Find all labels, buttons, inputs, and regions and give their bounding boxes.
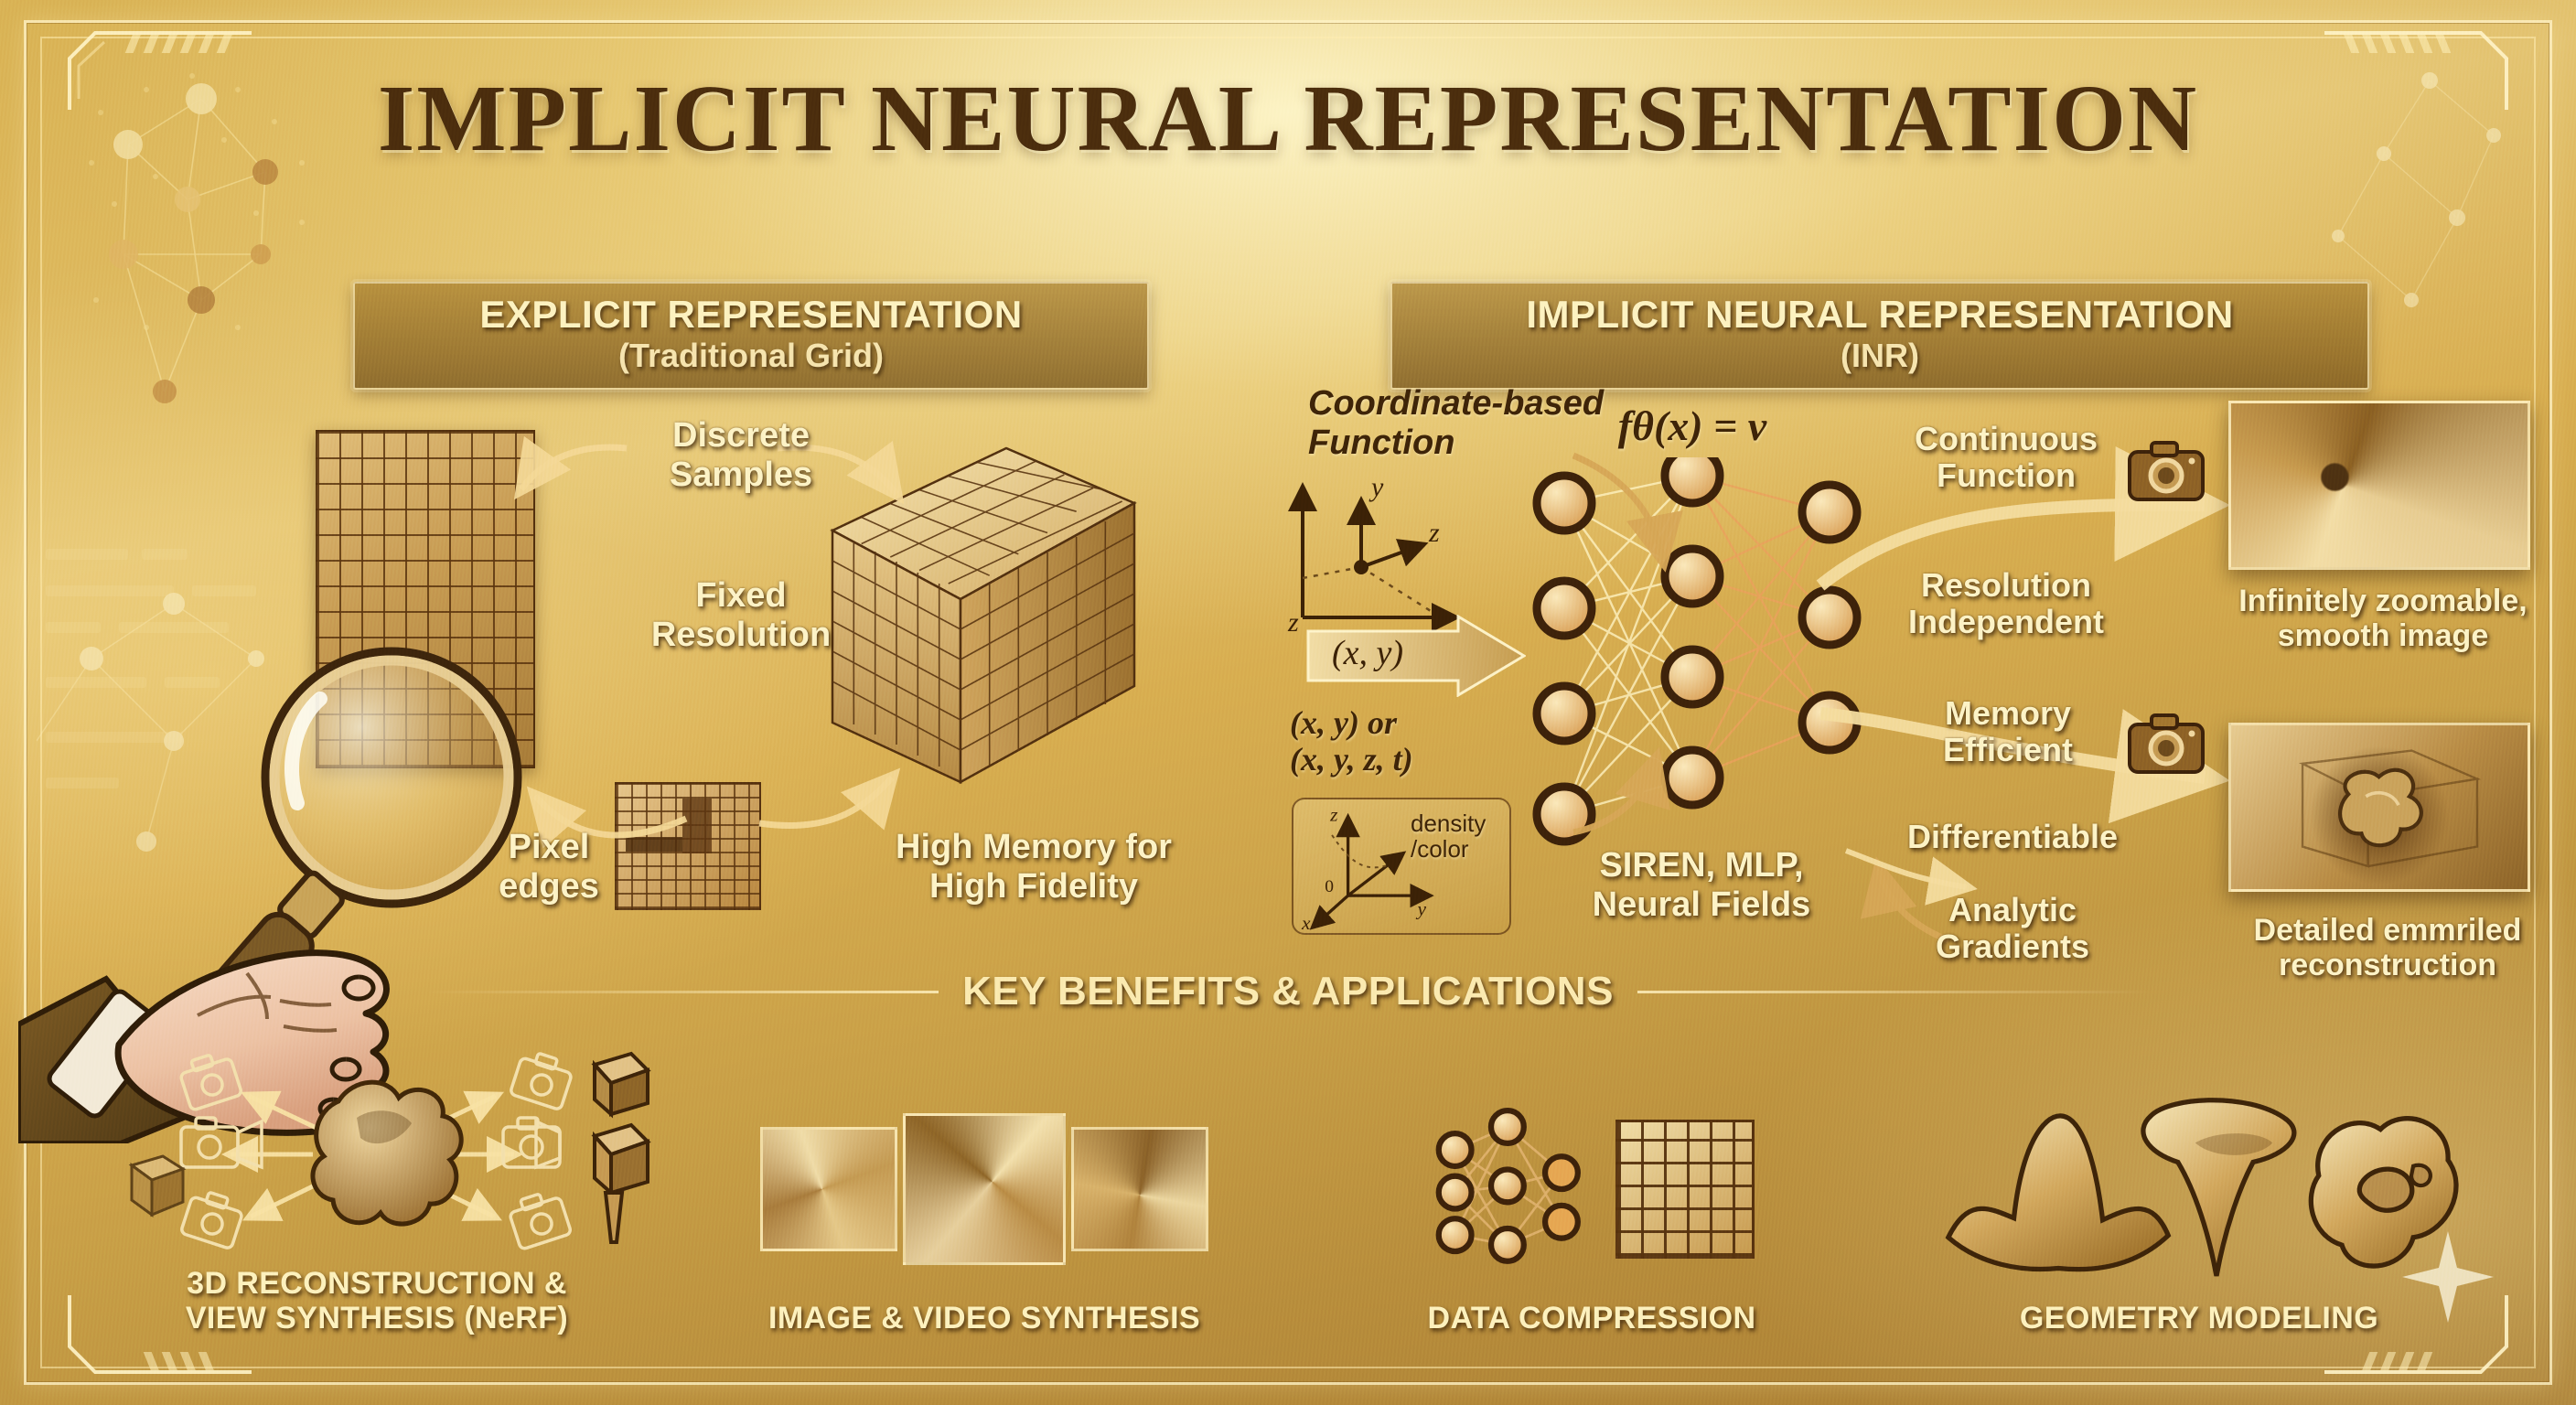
label-memory-efficient: Memory Efficient bbox=[1884, 695, 2131, 769]
image-video-artwork bbox=[681, 1083, 1288, 1295]
geometry-artwork bbox=[1895, 1083, 2503, 1295]
thumbnail-smooth-image bbox=[2228, 401, 2530, 570]
thumbnail-3d-reconstruction bbox=[2228, 723, 2530, 892]
label-differentiable: Differentiable bbox=[1866, 819, 2159, 855]
label-network-types: SIREN, MLP, Neural Fields bbox=[1546, 846, 1857, 924]
film-frame-2 bbox=[903, 1113, 1066, 1265]
applications-strip: 3D RECONSTRUCTION & VIEW SYNTHESIS (NeRF… bbox=[73, 1006, 2503, 1335]
application-label-image-video: IMAGE & VIDEO SYNTHESIS bbox=[768, 1301, 1200, 1335]
explicit-representation-banner: EXPLICIT REPRESENTATION (Traditional Gri… bbox=[353, 282, 1149, 390]
page-title: IMPLICIT NEURAL REPRESENTATION bbox=[0, 64, 2576, 173]
inr-heading-line1: IMPLICIT NEURAL REPRESENTATION bbox=[1416, 293, 2344, 337]
input-coordinate-arrow: (x, y) bbox=[1306, 615, 1526, 697]
application-label-geometry: GEOMETRY MODELING bbox=[2020, 1301, 2378, 1335]
density-axis-y: y bbox=[1416, 898, 1427, 920]
nerf-artwork bbox=[73, 1048, 681, 1260]
explicit-heading-line1: EXPLICIT REPRESENTATION bbox=[379, 293, 1123, 337]
application-label-compression: DATA COMPRESSION bbox=[1427, 1301, 1755, 1335]
label-density-color: density /color bbox=[1411, 810, 1520, 862]
application-label-nerf: 3D RECONSTRUCTION & VIEW SYNTHESIS (NeRF… bbox=[186, 1266, 568, 1335]
axis-label-z-lower: z bbox=[1287, 607, 1299, 638]
divider-rule-left bbox=[426, 991, 939, 993]
film-frame-1 bbox=[760, 1127, 897, 1251]
density-color-output-box: z x y 0 density /color bbox=[1292, 798, 1511, 935]
label-high-memory: High Memory for High Fidelity bbox=[860, 828, 1207, 906]
density-axis-z: z bbox=[1329, 803, 1338, 825]
density-origin: 0 bbox=[1325, 877, 1334, 896]
density-axis-x: x bbox=[1301, 912, 1311, 933]
camera-icon-top bbox=[2128, 441, 2205, 501]
axis-label-y: y bbox=[1368, 472, 1384, 502]
label-formula: fθ(x) = v bbox=[1555, 402, 1830, 450]
application-cell-geometry[interactable]: GEOMETRY MODELING bbox=[1895, 1006, 2503, 1335]
coordinate-axes-3d: y z z bbox=[1284, 457, 1476, 640]
film-frame-3 bbox=[1071, 1127, 1208, 1251]
label-continuous-function: Continuous Function bbox=[1873, 421, 2139, 495]
camera-icon-bottom bbox=[2128, 713, 2205, 774]
caption-output-top: Infinitely zoomable, smooth image bbox=[2205, 584, 2561, 653]
label-fixed-resolution: Fixed Resolution bbox=[622, 576, 860, 654]
compression-grid bbox=[1615, 1120, 1755, 1259]
application-cell-image-video[interactable]: IMAGE & VIDEO SYNTHESIS bbox=[681, 1006, 1288, 1335]
label-discrete-samples: Discrete Samples bbox=[622, 416, 860, 494]
infographic-poster: IMPLICIT NEURAL REPRESENTATION EXPLICIT … bbox=[0, 0, 2576, 1405]
label-analytic-gradients: Analytic Gradients bbox=[1894, 892, 2131, 966]
label-resolution-independent: Resolution Independent bbox=[1864, 567, 2148, 641]
application-cell-nerf[interactable]: 3D RECONSTRUCTION & VIEW SYNTHESIS (NeRF… bbox=[73, 1006, 681, 1335]
input-arrow-label: (x, y) bbox=[1332, 633, 1403, 673]
voxel-cube-3d bbox=[814, 430, 1153, 796]
explicit-heading-line2: (Traditional Grid) bbox=[379, 337, 1123, 375]
divider-rule-right bbox=[1637, 991, 2150, 993]
inr-heading-line2: (INR) bbox=[1416, 337, 2344, 375]
implicit-representation-banner: IMPLICIT NEURAL REPRESENTATION (INR) bbox=[1390, 282, 2369, 390]
application-cell-compression[interactable]: DATA COMPRESSION bbox=[1288, 1006, 1895, 1335]
axis-label-z-upper: z bbox=[1428, 518, 1440, 548]
compression-artwork bbox=[1288, 1083, 1895, 1295]
